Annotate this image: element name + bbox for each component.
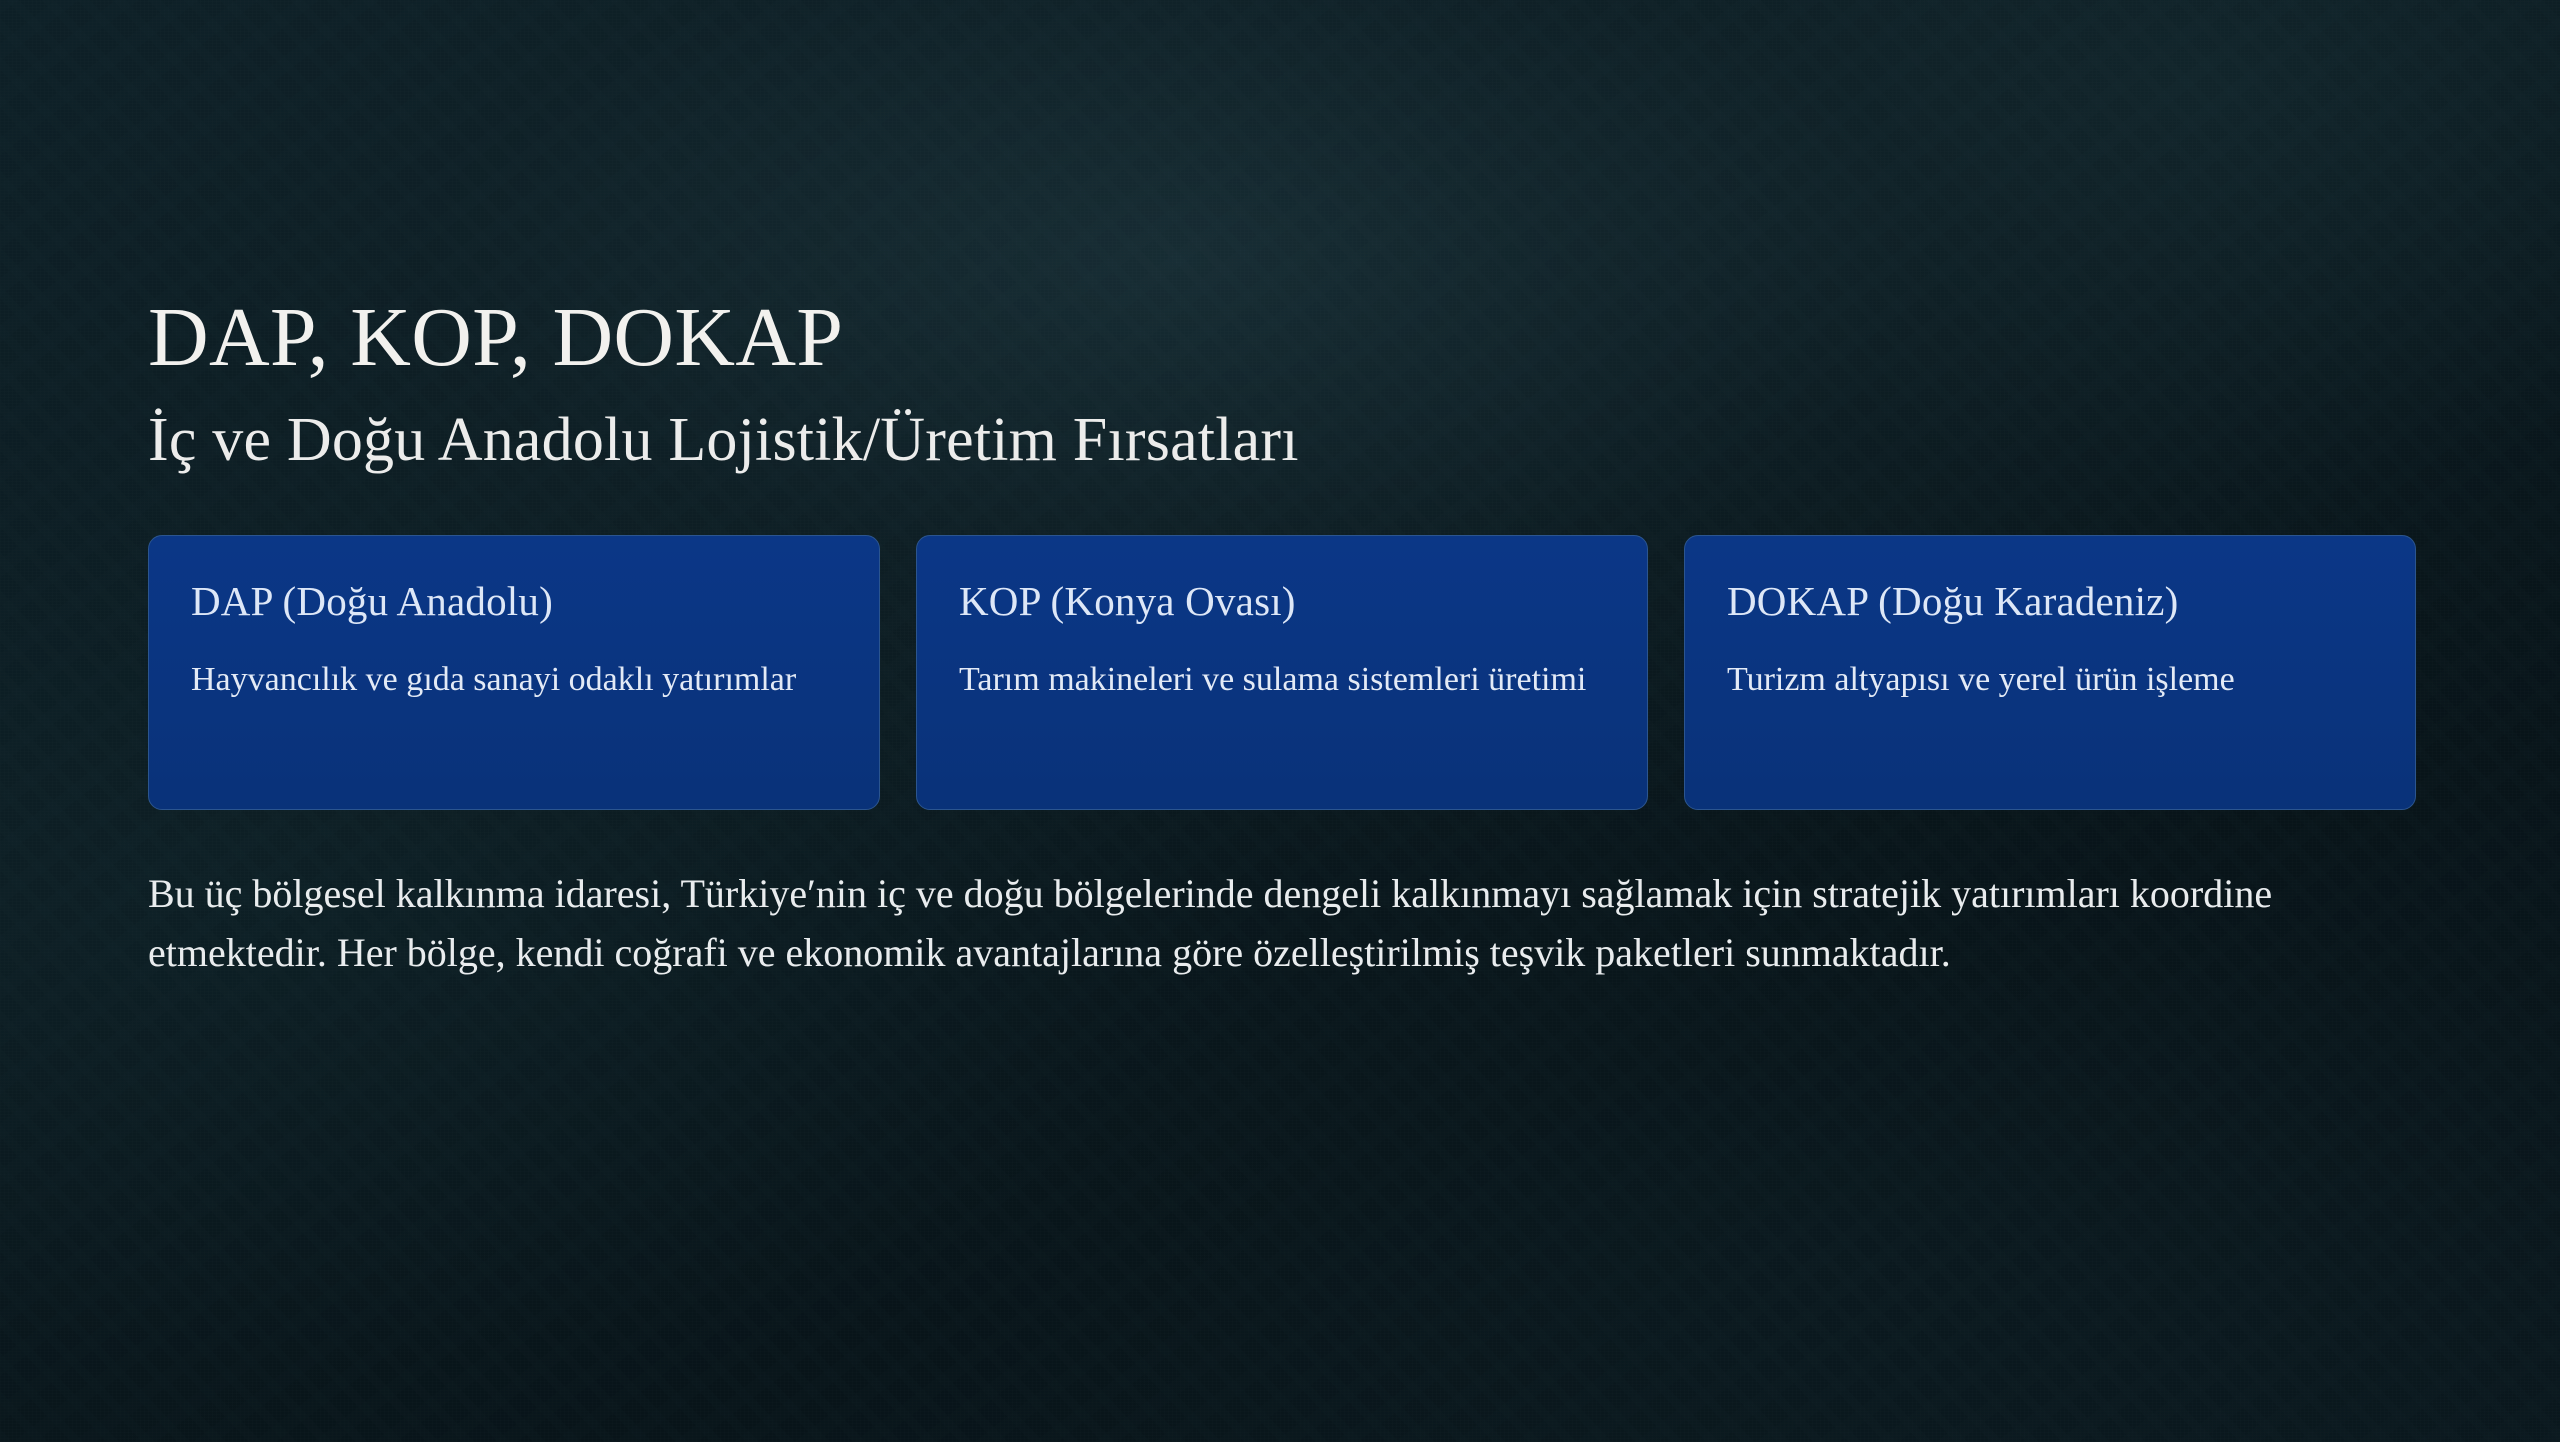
card-dap[interactable]: DAP (Doğu Anadolu) Hayvancılık ve gıda s… [148, 535, 880, 810]
card-dokap-title: DOKAP (Doğu Karadeniz) [1727, 578, 2373, 625]
card-dap-title: DAP (Doğu Anadolu) [191, 578, 837, 625]
card-kop[interactable]: KOP (Konya Ovası) Tarım makineleri ve su… [916, 535, 1648, 810]
page-subtitle: İç ve Doğu Anadolu Lojistik/Üretim Fırsa… [148, 408, 2416, 473]
slide-content: DAP, KOP, DOKAP İç ve Doğu Anadolu Lojis… [148, 296, 2416, 982]
body-paragraph: Bu üç bölgesel kalkınma idaresi, Türkiye… [148, 864, 2416, 982]
page-title: DAP, KOP, DOKAP [148, 296, 2416, 380]
card-dokap-description: Turizm altyapısı ve yerel ürün işleme [1727, 655, 2373, 705]
card-kop-description: Tarım makineleri ve sulama sistemleri ür… [959, 655, 1605, 705]
card-kop-title: KOP (Konya Ovası) [959, 578, 1605, 625]
slide-root: DAP, KOP, DOKAP İç ve Doğu Anadolu Lojis… [0, 0, 2560, 1442]
card-dokap[interactable]: DOKAP (Doğu Karadeniz) Turizm altyapısı … [1684, 535, 2416, 810]
card-dap-description: Hayvancılık ve gıda sanayi odaklı yatırı… [191, 655, 837, 705]
region-card-grid: DAP (Doğu Anadolu) Hayvancılık ve gıda s… [148, 535, 2416, 810]
